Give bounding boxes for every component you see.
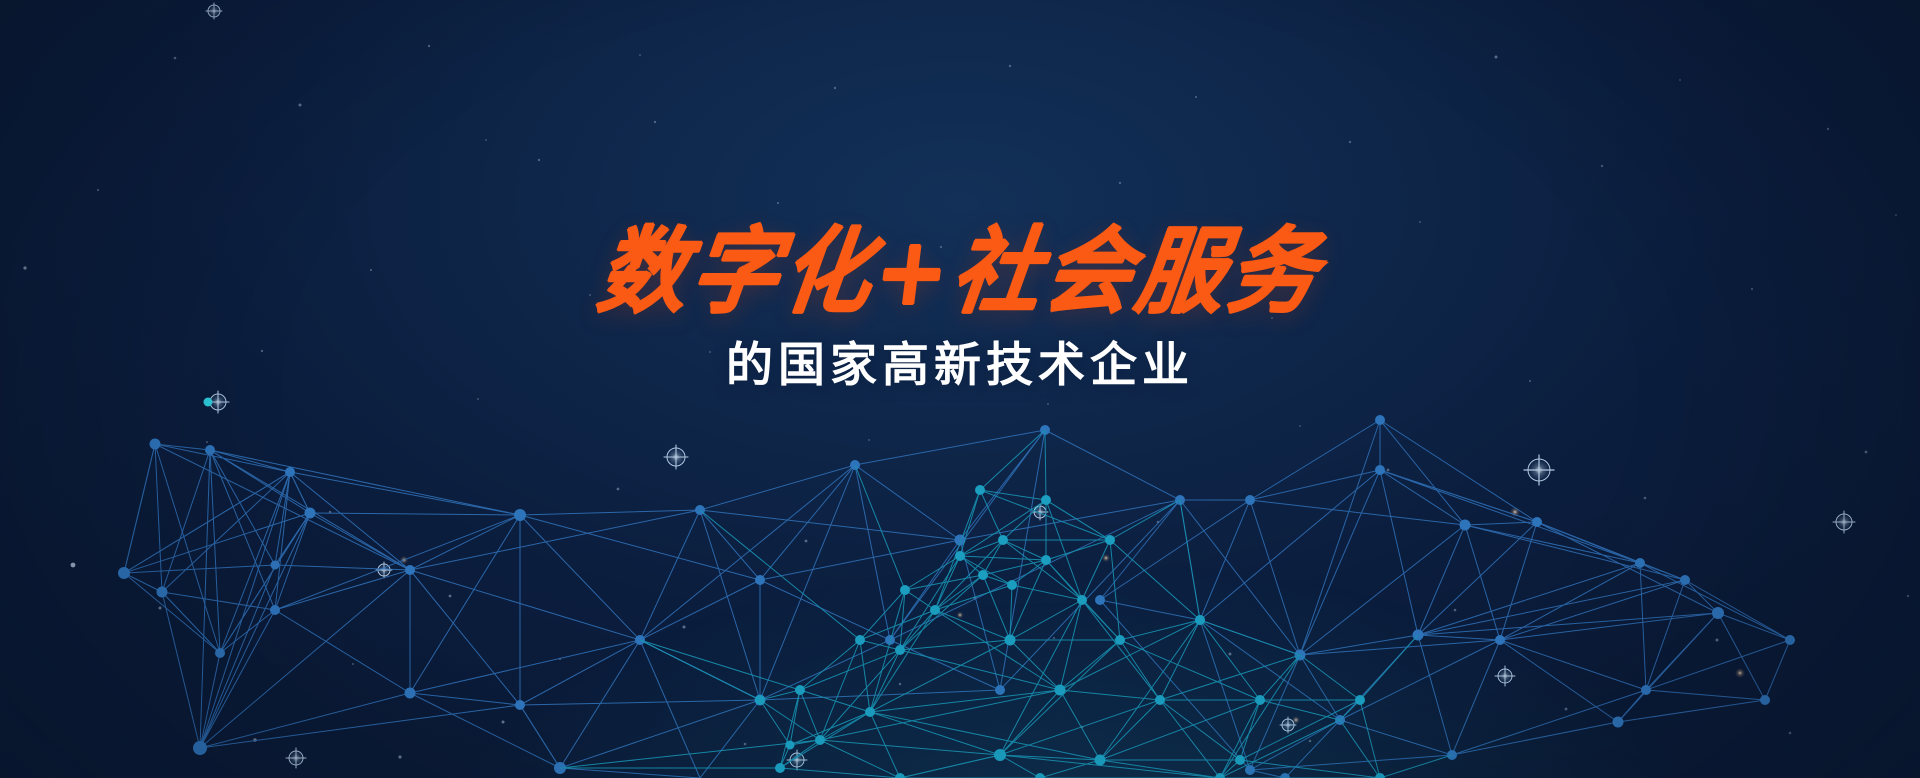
banner-text-block: 数字化+社会服务 的国家高新技术企业	[0, 228, 1920, 389]
page-title: 数字化+社会服务	[0, 225, 1920, 318]
banner-stage: 数字化+社会服务 的国家高新技术企业	[0, 0, 1920, 778]
page-subtitle: 的国家高新技术企业	[0, 342, 1920, 389]
